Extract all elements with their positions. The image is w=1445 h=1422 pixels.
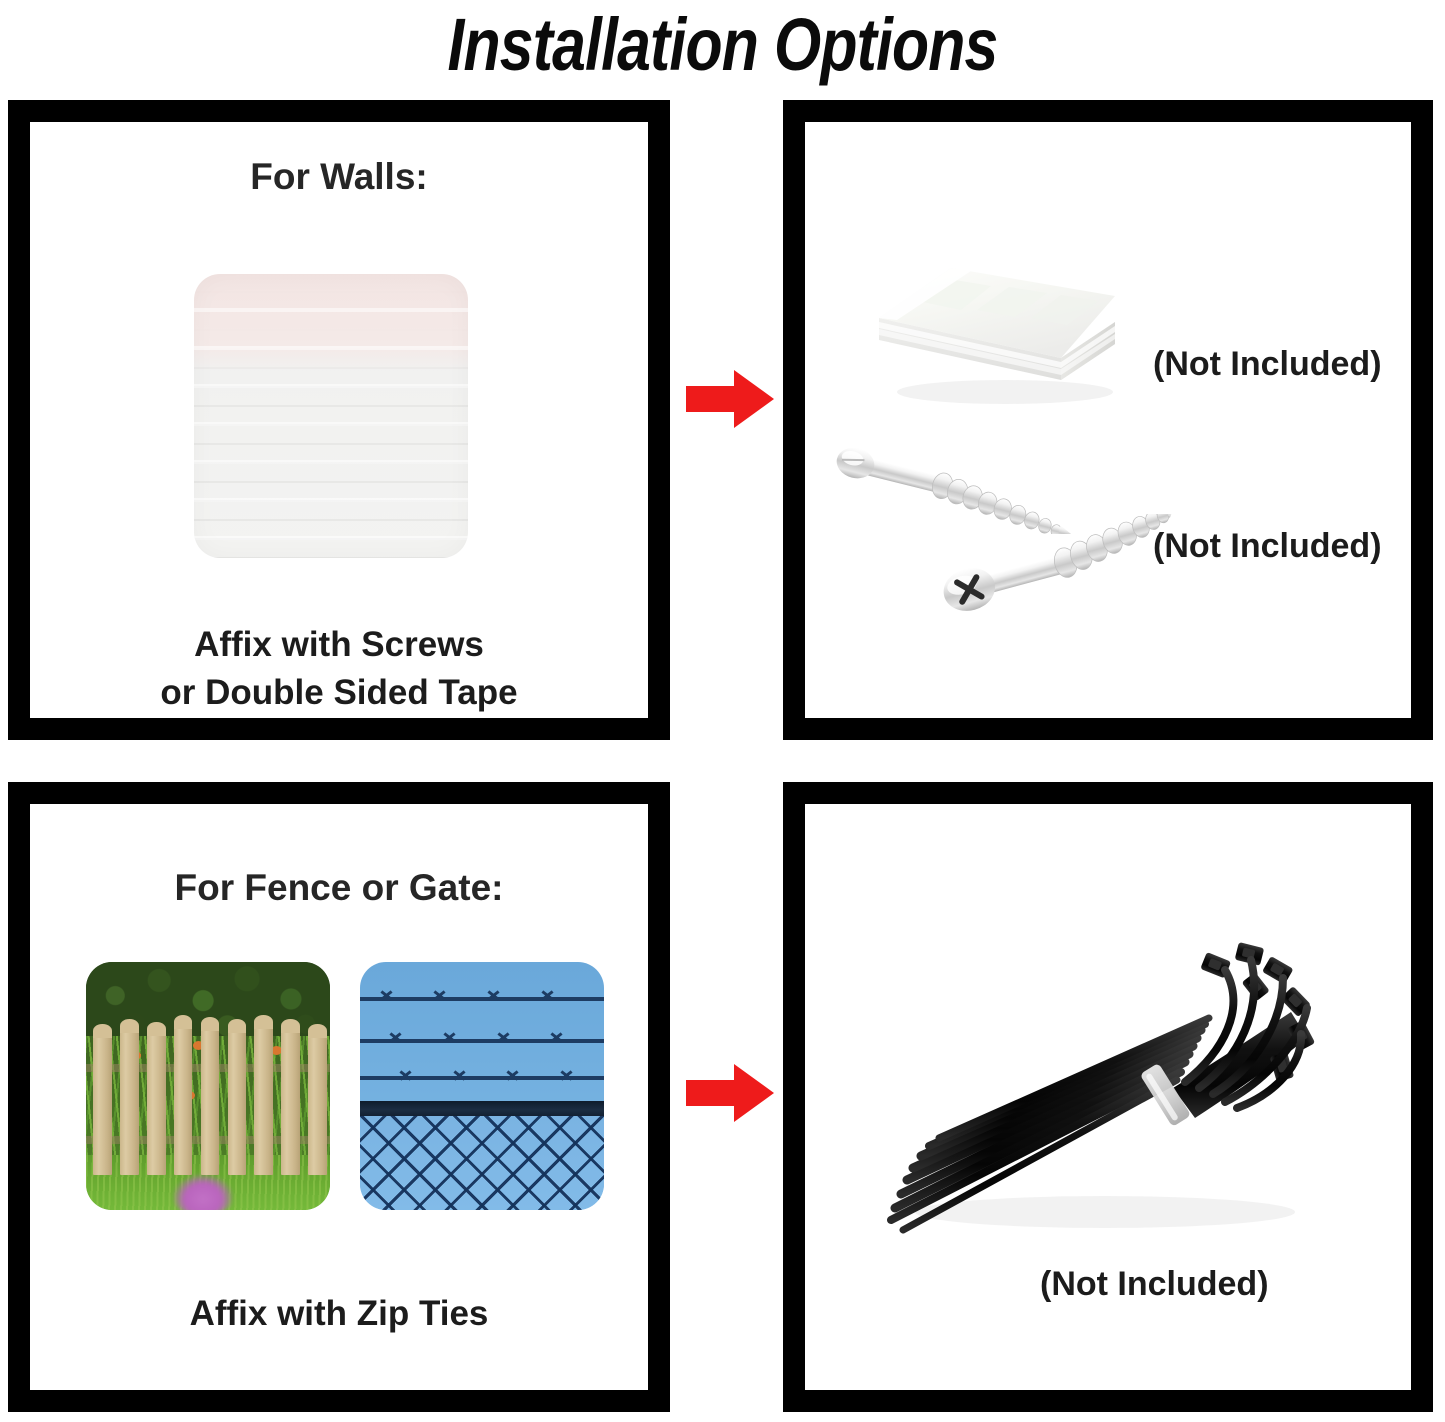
panel-zip-ties: (Not Included): [783, 782, 1433, 1412]
panel-for-walls-inner: For Walls: Affix with Screws or Double S…: [30, 122, 648, 718]
wooden-picket-fence-image: [86, 962, 330, 1210]
white-brick-wall-image: [194, 274, 468, 558]
for-walls-heading: For Walls:: [30, 155, 648, 199]
panel-zip-ties-inner: (Not Included): [805, 804, 1411, 1390]
black-zip-tie-bundle-image: [855, 912, 1345, 1242]
panel-wall-hardware: (Not Included): [783, 100, 1433, 740]
right-arrow-icon: [686, 368, 774, 430]
panel-for-fence-or-gate-inner: For Fence or Gate:: [30, 804, 648, 1390]
page-title: Installation Options: [130, 2, 1315, 88]
tape-not-included-label: (Not Included): [1153, 344, 1382, 384]
double-sided-tape-stack-image: [865, 240, 1125, 410]
walls-caption-line-2: or Double Sided Tape: [30, 670, 648, 716]
barbed-wire-chain-link-fence-image: [360, 962, 604, 1210]
zip-ties-not-included-label: (Not Included): [1040, 1264, 1269, 1304]
screws-not-included-label: (Not Included): [1153, 526, 1382, 566]
panel-for-walls: For Walls: Affix with Screws or Double S…: [8, 100, 670, 740]
for-fence-or-gate-heading: For Fence or Gate:: [30, 866, 648, 910]
panel-for-fence-or-gate: For Fence or Gate:: [8, 782, 670, 1412]
walls-caption-line-1: Affix with Screws: [30, 622, 648, 668]
right-arrow-icon: [686, 1062, 774, 1124]
fence-caption: Affix with Zip Ties: [30, 1291, 648, 1337]
panel-wall-hardware-inner: (Not Included): [805, 122, 1411, 718]
